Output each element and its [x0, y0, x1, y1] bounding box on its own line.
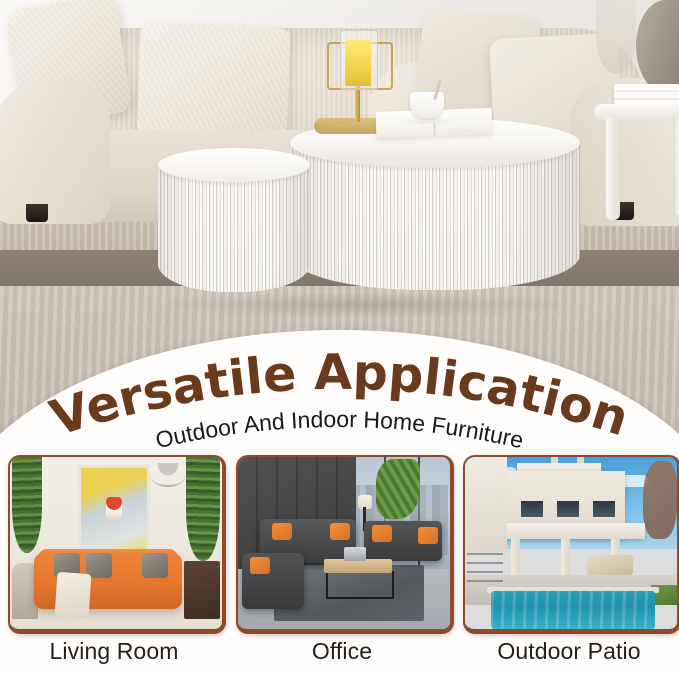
- fluted-round-nesting-table: [158, 148, 310, 298]
- swimming-pool: [491, 591, 655, 629]
- orange-pillow: [272, 523, 292, 540]
- wood-cabinet: [184, 561, 220, 619]
- nesting-table-top: [158, 148, 310, 182]
- indoor-plant: [376, 459, 420, 519]
- sofa-arm-left: [0, 78, 110, 224]
- hanging-plant-icon: [186, 457, 220, 561]
- caption-office: Office: [236, 638, 448, 665]
- tree: [643, 461, 677, 539]
- fluted-round-coffee-table: [290, 118, 580, 310]
- yellow-candle: [345, 40, 371, 86]
- sofa-leg: [26, 204, 48, 222]
- application-panels: [0, 455, 679, 635]
- panel-captions: Living Room Office Outdoor Patio: [0, 638, 679, 674]
- glass-railing: [467, 553, 503, 587]
- outdoor-patio-scene: [465, 457, 677, 629]
- living-room-scene: [10, 457, 222, 629]
- orange-pillow: [418, 527, 438, 544]
- orange-pillow: [372, 525, 392, 542]
- caption-outdoor-patio: Outdoor Patio: [463, 638, 675, 665]
- teacup: [410, 92, 444, 118]
- marketing-image: Versatile Application Outdoor And Indoor…: [0, 0, 679, 674]
- throw-pillow: [142, 553, 168, 578]
- stacked-books: [614, 84, 679, 105]
- hanging-plant-icon: [12, 457, 42, 553]
- banner-subtitle: Outdoor And Indoor Home Furniture: [153, 406, 526, 452]
- laptop: [344, 547, 366, 561]
- orange-pillow: [330, 523, 350, 540]
- throw-blanket: [55, 572, 92, 618]
- framed-artwork: [78, 465, 150, 557]
- caption-living-room: Living Room: [8, 638, 220, 665]
- banner-text-block: Versatile Application Outdoor And Indoor…: [0, 332, 679, 452]
- coffee-table: [324, 559, 392, 573]
- dried-pampas: [596, 0, 636, 74]
- orange-pillow: [250, 557, 270, 574]
- chandelier-icon: [150, 463, 186, 487]
- office-scene: [238, 457, 450, 629]
- patio-furniture: [587, 555, 633, 575]
- panel-living-room[interactable]: [8, 455, 226, 634]
- panel-outdoor-patio[interactable]: [463, 455, 679, 634]
- side-table-leg: [606, 116, 620, 220]
- panel-office[interactable]: [236, 455, 454, 634]
- terrace-canopy: [495, 523, 645, 539]
